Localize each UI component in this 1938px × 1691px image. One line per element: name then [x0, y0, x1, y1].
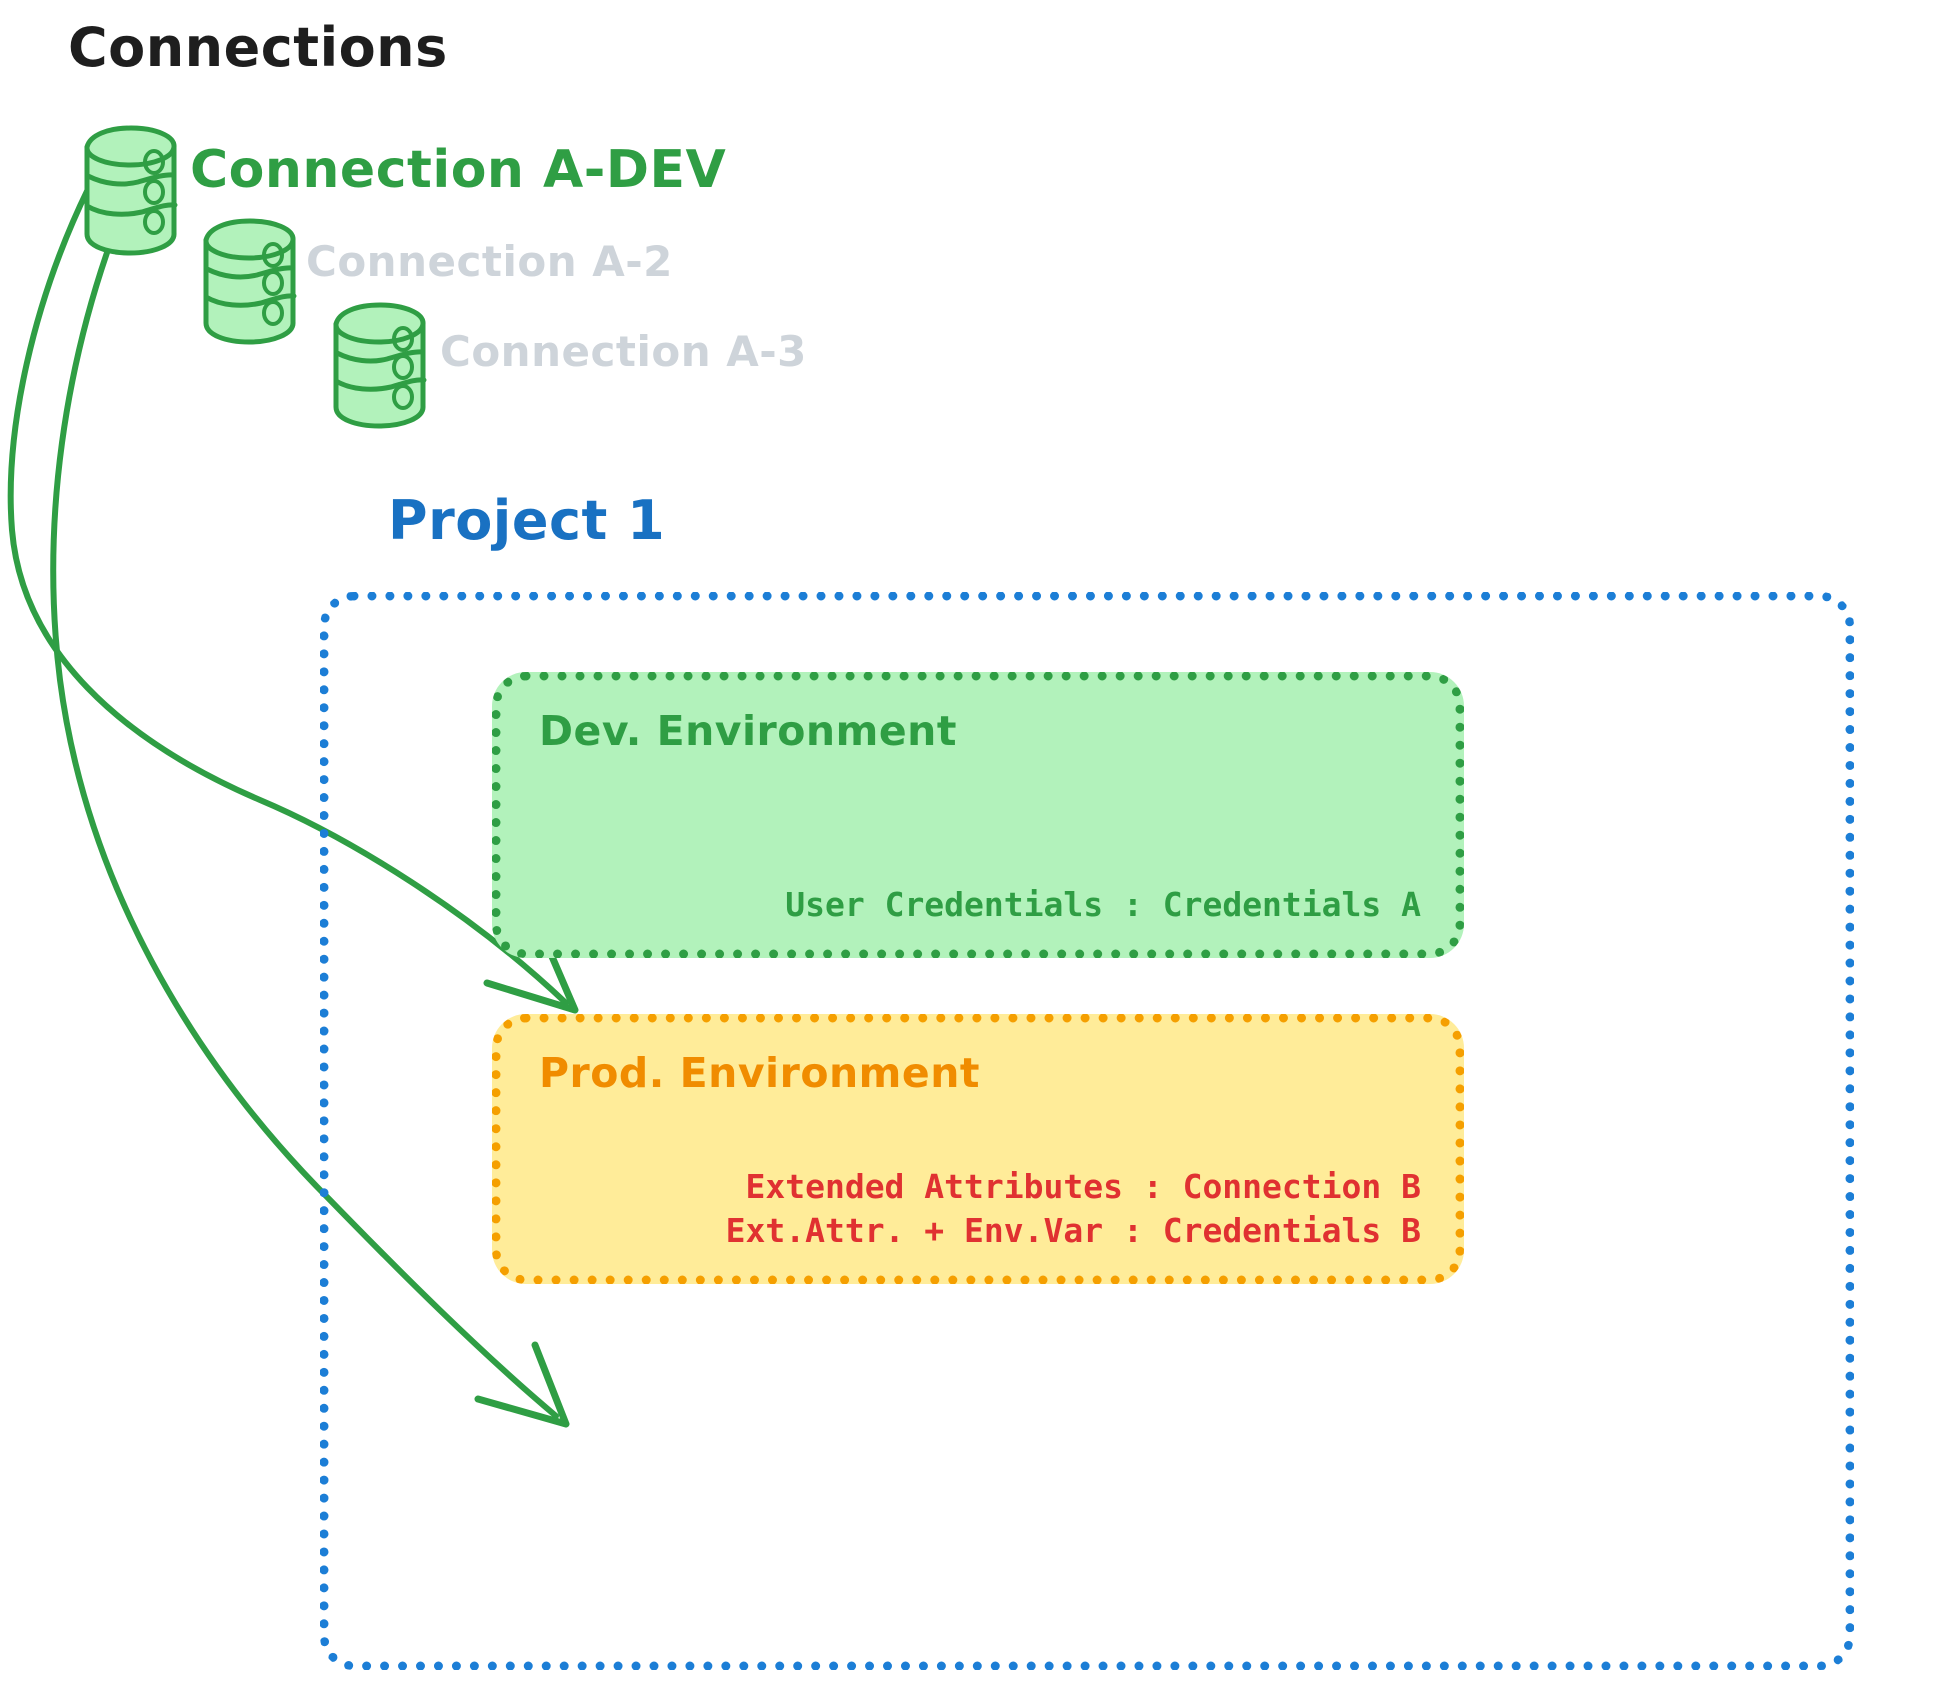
connection-label-a-3: Connection A-3: [440, 327, 807, 376]
prod-environment-title: Prod. Environment: [539, 1049, 980, 1097]
dev-credentials-line: User Credentials : Credentials A: [785, 883, 1421, 927]
prod-environment-card[interactable]: Prod. Environment Extended Attributes : …: [492, 1014, 1464, 1284]
project-title: Project 1: [388, 489, 665, 552]
database-icon[interactable]: [205, 220, 294, 342]
diagram-canvas: Connections Connection A-DEV Connection …: [0, 0, 1938, 1691]
dev-environment-card[interactable]: Dev. Environment User Credentials : Cred…: [492, 672, 1464, 958]
prod-extended-attributes-line: Extended Attributes : Connection B: [726, 1165, 1421, 1209]
database-icon[interactable]: [335, 304, 424, 426]
connection-label-a-2: Connection A-2: [306, 237, 673, 286]
connection-label-a-dev: Connection A-DEV: [190, 140, 726, 200]
dev-environment-details: User Credentials : Credentials A: [785, 883, 1421, 927]
page-title: Connections: [68, 16, 448, 79]
database-icon[interactable]: [86, 127, 175, 253]
prod-env-var-line: Ext.Attr. + Env.Var : Credentials B: [726, 1209, 1421, 1253]
dev-environment-title: Dev. Environment: [539, 707, 957, 755]
prod-environment-details: Extended Attributes : Connection B Ext.A…: [726, 1165, 1421, 1253]
